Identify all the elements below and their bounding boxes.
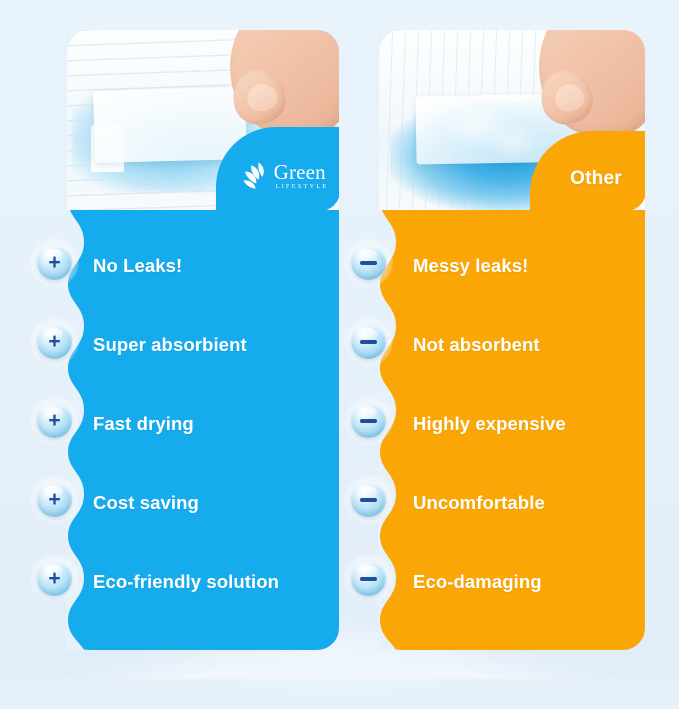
other-brand-panel: Other Messy leaks! Not absorbent Highly …	[379, 30, 645, 650]
list-item: Messy leaks!	[379, 226, 645, 305]
list-item: Cost saving	[67, 463, 339, 542]
leaf-logo-icon	[242, 161, 272, 191]
list-item: Highly expensive	[379, 384, 645, 463]
plus-glyph: +	[48, 252, 60, 273]
list-item: Super absorbient	[67, 305, 339, 384]
feature-label: Fast drying	[93, 413, 194, 435]
brand-name: Green	[274, 162, 329, 183]
plus-icon: +	[37, 403, 72, 438]
comparison-infographic: Green LIFESTYLE No Leaks! Super absorbie…	[0, 0, 679, 679]
feature-label: Cost saving	[93, 492, 199, 514]
list-item: Not absorbent	[379, 305, 645, 384]
brand-tagline: LIFESTYLE	[276, 184, 329, 191]
plus-glyph: +	[48, 568, 60, 589]
plus-glyph: +	[48, 489, 60, 510]
plus-icon: +	[37, 324, 72, 359]
plus-icon: +	[37, 561, 72, 596]
plus-glyph: +	[48, 410, 60, 431]
minus-glyph	[360, 419, 377, 423]
plus-icon: +	[37, 482, 72, 517]
list-item: Eco-damaging	[379, 542, 645, 621]
feature-label: Highly expensive	[413, 413, 566, 435]
feature-label: Messy leaks!	[413, 255, 528, 277]
list-item: Eco-friendly solution	[67, 542, 339, 621]
minus-glyph	[360, 261, 377, 265]
feature-label: Uncomfortable	[413, 492, 545, 514]
feature-label: Super absorbient	[93, 334, 247, 356]
other-badge-label: Other	[570, 168, 622, 190]
minus-glyph	[360, 498, 377, 502]
feature-label: Not absorbent	[413, 334, 540, 356]
green-lifestyle-panel: Green LIFESTYLE No Leaks! Super absorbie…	[67, 30, 339, 650]
other-product-photo-frame: Other	[379, 30, 645, 210]
dry-wipe-left	[93, 87, 247, 163]
minus-glyph	[360, 577, 377, 581]
other-feature-list: Messy leaks! Not absorbent Highly expens…	[379, 226, 645, 621]
list-item: Fast drying	[67, 384, 339, 463]
plus-icon: +	[37, 245, 72, 280]
feature-label: No Leaks!	[93, 255, 182, 277]
plus-glyph: +	[48, 331, 60, 352]
list-item: No Leaks!	[67, 226, 339, 305]
minus-icon	[351, 482, 386, 517]
green-feature-list: No Leaks! Super absorbient Fast drying C…	[67, 226, 339, 621]
minus-icon	[351, 561, 386, 596]
minus-icon	[351, 245, 386, 280]
list-item: Uncomfortable	[379, 463, 645, 542]
feature-label: Eco-damaging	[413, 571, 542, 593]
minus-icon	[351, 324, 386, 359]
green-product-photo-frame: Green LIFESTYLE	[67, 30, 339, 210]
feature-label: Eco-friendly solution	[93, 571, 279, 593]
minus-icon	[351, 403, 386, 438]
minus-glyph	[360, 340, 377, 344]
